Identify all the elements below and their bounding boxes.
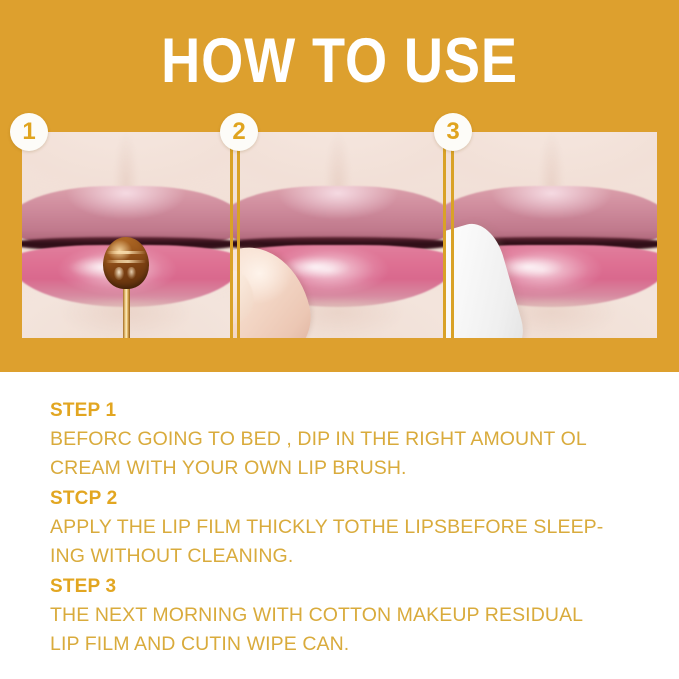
step-group-3: STEP 3 THE NEXT MORNING WITH COTTON MAKE…	[50, 572, 650, 659]
applicator-ridge	[106, 260, 146, 263]
step-group-2: STCP 2 APPLY THE LIP FILM THICKLY TOTHE …	[50, 484, 650, 571]
lips-photo	[446, 132, 657, 338]
photo-strip	[22, 132, 657, 338]
panel-apply-with-wand	[22, 132, 230, 338]
step-badge-1: 1	[10, 113, 48, 151]
step-badge-3: 3	[434, 113, 472, 151]
applicator-highlight	[114, 267, 124, 279]
lips-photo	[233, 132, 443, 338]
step-group-1: STEP 1 BEFORC GOING TO BED , DIP IN THE …	[50, 396, 650, 483]
philtrum-shading	[539, 132, 564, 188]
philtrum-shading	[325, 132, 350, 188]
step-heading-3: STEP 3	[50, 572, 650, 601]
lips-photo	[22, 132, 230, 338]
step-body-1: BEFORC GOING TO BED , DIP IN THE RIGHT A…	[50, 425, 650, 483]
applicator-head-icon	[103, 237, 149, 289]
badge-stem	[237, 132, 240, 338]
page-title: HOW TO USE	[48, 28, 632, 94]
step-body-3: THE NEXT MORNING WITH COTTON MAKEUP RESI…	[50, 601, 650, 659]
badge-stem	[451, 132, 454, 338]
panel-wipe-with-cotton	[446, 132, 657, 338]
how-to-use-infographic: HOW TO USE	[0, 0, 679, 679]
step-heading-1: STEP 1	[50, 396, 650, 425]
step-body-2: APPLY THE LIP FILM THICKLY TOTHE LIPSBEF…	[50, 513, 650, 571]
philtrum-shading	[114, 132, 139, 188]
panel-spread-with-finger	[233, 132, 443, 338]
instructions-block: STEP 1 BEFORC GOING TO BED , DIP IN THE …	[50, 396, 650, 660]
applicator-highlight	[127, 267, 136, 278]
step-heading-2: STCP 2	[50, 484, 650, 513]
applicator-ridge	[106, 251, 146, 254]
step-badge-2: 2	[220, 113, 258, 151]
